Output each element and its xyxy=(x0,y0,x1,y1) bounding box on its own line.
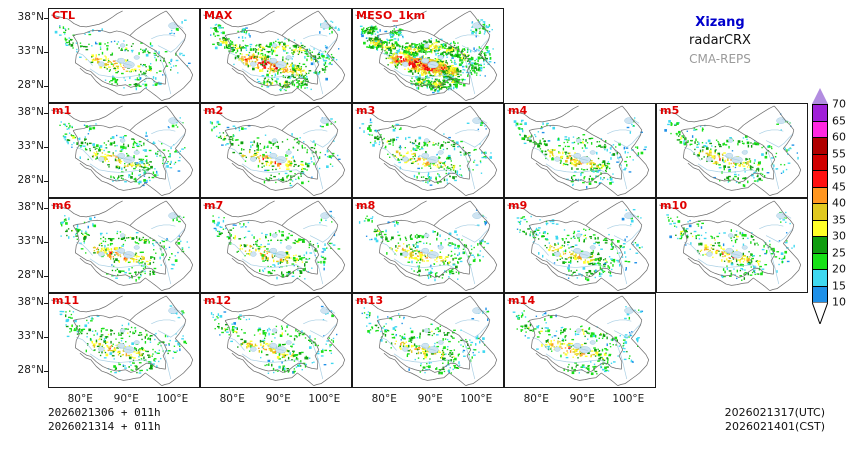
map-canvas-m10 xyxy=(657,199,807,292)
geography-layer xyxy=(203,201,344,291)
panel-meso_1km[interactable]: MESO_1km xyxy=(352,8,504,103)
title-region: Xizang xyxy=(620,14,820,32)
map-canvas-m6 xyxy=(49,199,199,292)
y-tick-label: 38°N xyxy=(18,201,44,213)
y-tick-label: 38°N xyxy=(18,11,44,23)
panel-label-ctl: CTL xyxy=(52,9,75,22)
map-canvas-max xyxy=(201,9,351,102)
colorbar-tick-label: 40 xyxy=(832,197,846,210)
colorbar-tick-label: 10 xyxy=(832,296,846,309)
colorbar-band xyxy=(812,137,828,154)
geography-layer xyxy=(355,296,496,386)
x-axis: 80°E90°E100°E80°E90°E100°E80°E90°E100°E8… xyxy=(48,390,808,408)
map-canvas-m2 xyxy=(201,104,351,197)
panel-row-3: m11m12m13m14 xyxy=(48,293,808,388)
colorbar-band xyxy=(812,104,828,121)
colorbar-band xyxy=(812,187,828,204)
map-canvas-m11 xyxy=(49,294,199,387)
colorbar-tick-label: 50 xyxy=(832,164,846,177)
geography-layer xyxy=(355,11,496,101)
x-tick-label: 100°E xyxy=(156,393,188,405)
panel-label-m8: m8 xyxy=(356,199,376,212)
panel-m9[interactable]: m9 xyxy=(504,198,656,293)
map-canvas-m1 xyxy=(49,104,199,197)
colorbar-tick-label: 60 xyxy=(832,131,846,144)
geography-layer xyxy=(203,106,344,196)
colorbar-band xyxy=(812,170,828,187)
map-canvas-m7 xyxy=(201,199,351,292)
init-time-line-1: 2026021306 + 011h xyxy=(48,406,161,420)
panel-max[interactable]: MAX xyxy=(200,8,352,103)
colorbar-band xyxy=(812,220,828,237)
x-tick-label: 90°E xyxy=(266,393,291,405)
geography-layer xyxy=(659,106,800,196)
map-canvas-m5 xyxy=(657,104,807,197)
colorbar-band xyxy=(812,154,828,171)
panel-label-m11: m11 xyxy=(52,294,79,307)
x-tick-label: 90°E xyxy=(570,393,595,405)
valid-time-cst: 2026021401(CST) xyxy=(725,420,825,434)
echo-layer xyxy=(59,117,185,186)
panel-label-m5: m5 xyxy=(660,104,680,117)
panel-empty-3-4 xyxy=(656,293,808,388)
y-tick-label: 28°N xyxy=(18,174,44,186)
colorbar-band xyxy=(812,286,828,303)
x-tick-label: 80°E xyxy=(220,393,245,405)
y-tick-label: 33°N xyxy=(18,235,44,247)
panel-m2[interactable]: m2 xyxy=(200,103,352,198)
panel-m13[interactable]: m13 xyxy=(352,293,504,388)
geography-layer xyxy=(507,296,648,386)
panel-label-m10: m10 xyxy=(660,199,687,212)
x-tick-label: 100°E xyxy=(612,393,644,405)
panel-m1[interactable]: m1 xyxy=(48,103,200,198)
map-canvas-m12 xyxy=(201,294,351,387)
x-tick-label: 90°E xyxy=(114,393,139,405)
geography-layer xyxy=(355,201,496,291)
y-tick-label: 28°N xyxy=(18,364,44,376)
panel-label-m3: m3 xyxy=(356,104,376,117)
title-model: CMA-REPS xyxy=(620,50,820,68)
colorbar-over-arrow xyxy=(812,88,828,104)
y-tick-label: 28°N xyxy=(18,79,44,91)
map-canvas-meso_1km xyxy=(353,9,503,102)
echo-layer xyxy=(210,20,340,91)
title-variable: radarCRX xyxy=(620,32,820,50)
panel-m12[interactable]: m12 xyxy=(200,293,352,388)
map-canvas-m8 xyxy=(353,199,503,292)
x-tick-label: 100°E xyxy=(308,393,340,405)
panel-m11[interactable]: m11 xyxy=(48,293,200,388)
x-tick-label: 80°E xyxy=(372,393,397,405)
colorbar-band xyxy=(812,121,828,138)
colorbar-under-arrow xyxy=(812,302,828,324)
panel-label-meso_1km: MESO_1km xyxy=(356,9,425,22)
valid-time-utc: 2026021317(UTC) xyxy=(725,406,825,420)
panel-label-m6: m6 xyxy=(52,199,72,212)
panel-row-1: m1m2m3m4m5 xyxy=(48,103,808,198)
map-canvas-m13 xyxy=(353,294,503,387)
footer-init-times: 2026021306 + 011h 2026021314 + 011h xyxy=(48,406,161,434)
panel-label-m12: m12 xyxy=(204,294,231,307)
echo-layer xyxy=(359,118,492,186)
x-tick-label: 90°E xyxy=(418,393,443,405)
colorbar-tick-label: 35 xyxy=(832,213,846,226)
echo-layer xyxy=(517,209,643,281)
panel-m10[interactable]: m10 xyxy=(656,198,808,293)
panel-m5[interactable]: m5 xyxy=(656,103,808,198)
echo-layer xyxy=(55,20,191,91)
y-tick-label: 38°N xyxy=(18,106,44,118)
panel-m7[interactable]: m7 xyxy=(200,198,352,293)
panel-m4[interactable]: m4 xyxy=(504,103,656,198)
colorbar-band xyxy=(812,203,828,220)
map-canvas-m9 xyxy=(505,199,655,292)
panel-m3[interactable]: m3 xyxy=(352,103,504,198)
y-tick-label: 28°N xyxy=(18,269,44,281)
colorbar-band xyxy=(812,253,828,270)
panel-label-m2: m2 xyxy=(204,104,224,117)
colorbar-tick-label: 65 xyxy=(832,114,846,127)
echo-layer xyxy=(211,306,338,374)
title-block: Xizang radarCRX CMA-REPS xyxy=(620,14,820,68)
colorbar-tick-label: 45 xyxy=(832,180,846,193)
panel-label-m13: m13 xyxy=(356,294,383,307)
y-tick-label: 33°N xyxy=(18,140,44,152)
map-canvas-m14 xyxy=(505,294,655,387)
x-tick-label: 100°E xyxy=(460,393,492,405)
colorbar-tick-label: 30 xyxy=(832,230,846,243)
y-tick-label: 38°N xyxy=(18,296,44,308)
colorbar-band xyxy=(812,236,828,253)
footer-valid-times: 2026021317(UTC) 2026021401(CST) xyxy=(725,406,825,434)
panel-label-m14: m14 xyxy=(508,294,535,307)
y-tick-label: 33°N xyxy=(18,45,44,57)
echo-layer xyxy=(60,305,187,373)
y-tick-label: 33°N xyxy=(18,330,44,342)
panel-label-m1: m1 xyxy=(52,104,72,117)
echo-layer xyxy=(210,118,341,187)
colorbar-tick-label: 20 xyxy=(832,263,846,276)
geography-layer xyxy=(507,201,648,291)
map-canvas-m3 xyxy=(353,104,503,197)
panel-m14[interactable]: m14 xyxy=(504,293,656,388)
panel-m8[interactable]: m8 xyxy=(352,198,504,293)
map-canvas-m4 xyxy=(505,104,655,197)
x-tick-label: 80°E xyxy=(68,393,93,405)
geography-layer xyxy=(507,106,648,196)
x-tick-label: 80°E xyxy=(524,393,549,405)
colorbar-band xyxy=(812,269,828,286)
y-axis: 38°N33°N28°N38°N33°N28°N38°N33°N28°N38°N… xyxy=(0,8,44,388)
colorbar-tick-label: 70 xyxy=(832,98,846,111)
panel-row-2: m6m7m8m9m10 xyxy=(48,198,808,293)
panel-label-max: MAX xyxy=(204,9,233,22)
colorbar-tick-label: 25 xyxy=(832,246,846,259)
panel-ctl[interactable]: CTL xyxy=(48,8,200,103)
panel-label-m4: m4 xyxy=(508,104,528,117)
echo-layer xyxy=(362,307,490,374)
geography-layer xyxy=(51,11,192,101)
panel-m6[interactable]: m6 xyxy=(48,198,200,293)
panel-label-m7: m7 xyxy=(204,199,224,212)
colorbar-tick-label: 55 xyxy=(832,147,846,160)
echo-layer xyxy=(212,211,340,280)
panel-label-m9: m9 xyxy=(508,199,528,212)
colorbar: 70656055504540353025201510 xyxy=(812,88,858,338)
init-time-line-2: 2026021314 + 011h xyxy=(48,420,161,434)
map-canvas-ctl xyxy=(49,9,199,102)
geography-layer xyxy=(659,201,800,291)
colorbar-tick-label: 15 xyxy=(832,279,846,292)
